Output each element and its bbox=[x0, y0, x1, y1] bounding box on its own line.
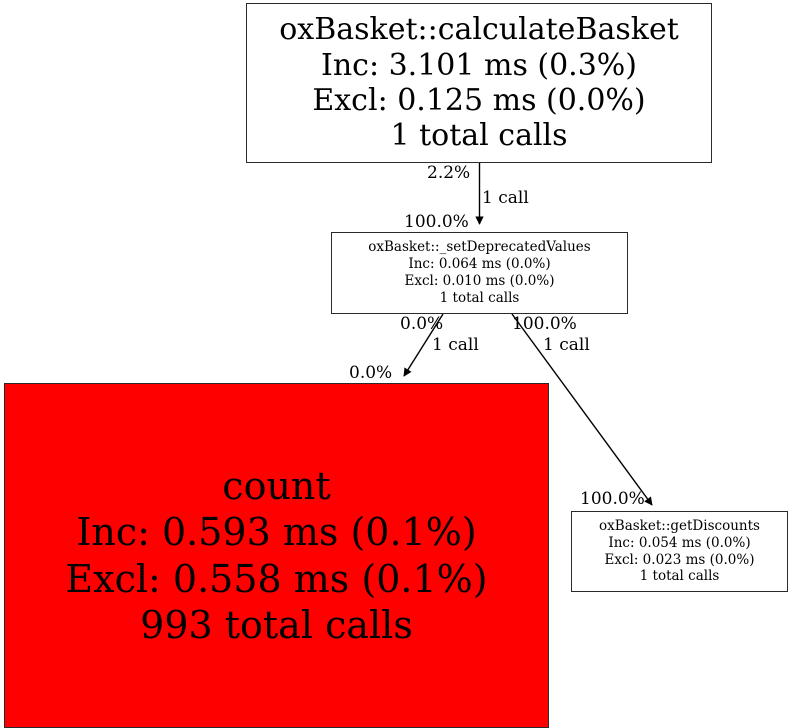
node-function-name: oxBasket::calculateBasket bbox=[279, 12, 679, 47]
edge-label-head-percent-set-deprecated-values-to-get-discounts: 100.0% bbox=[580, 491, 645, 508]
node-function-name: count bbox=[222, 463, 330, 509]
call-graph-canvas: oxBasket::calculateBasket Inc: 3.101 ms … bbox=[0, 0, 799, 725]
node-exclusive-time: Excl: 0.010 ms (0.0%) bbox=[405, 273, 555, 290]
edge-label-tail-percent-set-deprecated-values-to-count: 0.0% bbox=[400, 316, 443, 333]
node-inclusive-time: Inc: 0.064 ms (0.0%) bbox=[408, 256, 550, 273]
edge-label-head-percent-set-deprecated-values-to-count: 0.0% bbox=[349, 365, 392, 382]
edge-label-tail-percent-set-deprecated-values-to-get-discounts: 100.0% bbox=[512, 316, 577, 333]
node-get-discounts[interactable]: oxBasket::getDiscounts Inc: 0.054 ms (0.… bbox=[571, 511, 788, 592]
node-set-deprecated-values[interactable]: oxBasket::_setDeprecatedValues Inc: 0.06… bbox=[331, 232, 628, 314]
edge-label-calls-set-deprecated-values-to-get-discounts: 1 call bbox=[543, 337, 590, 354]
edge-label-calls-set-deprecated-values-to-count: 1 call bbox=[432, 337, 479, 354]
node-total-calls: 1 total calls bbox=[440, 290, 520, 307]
edge-label-head-percent-calculate-basket-to-set-deprecated-values: 100.0% bbox=[404, 214, 469, 231]
node-calculate-basket[interactable]: oxBasket::calculateBasket Inc: 3.101 ms … bbox=[246, 3, 712, 163]
node-exclusive-time: Excl: 0.558 ms (0.1%) bbox=[65, 556, 487, 602]
edge-label-tail-percent-calculate-basket-to-set-deprecated-values: 2.2% bbox=[427, 165, 470, 182]
edge-label-calls-calculate-basket-to-set-deprecated-values: 1 call bbox=[482, 190, 529, 207]
node-total-calls: 1 total calls bbox=[390, 118, 567, 153]
node-exclusive-time: Excl: 0.023 ms (0.0%) bbox=[605, 552, 755, 569]
node-inclusive-time: Inc: 0.593 ms (0.1%) bbox=[76, 509, 476, 555]
node-inclusive-time: Inc: 0.054 ms (0.0%) bbox=[608, 535, 750, 552]
node-count[interactable]: count Inc: 0.593 ms (0.1%) Excl: 0.558 m… bbox=[4, 383, 549, 728]
node-inclusive-time: Inc: 3.101 ms (0.3%) bbox=[321, 48, 637, 83]
node-total-calls: 1 total calls bbox=[640, 568, 720, 585]
node-function-name: oxBasket::_setDeprecatedValues bbox=[368, 239, 590, 256]
node-exclusive-time: Excl: 0.125 ms (0.0%) bbox=[312, 83, 645, 118]
node-function-name: oxBasket::getDiscounts bbox=[599, 518, 760, 535]
node-total-calls: 993 total calls bbox=[140, 602, 413, 648]
